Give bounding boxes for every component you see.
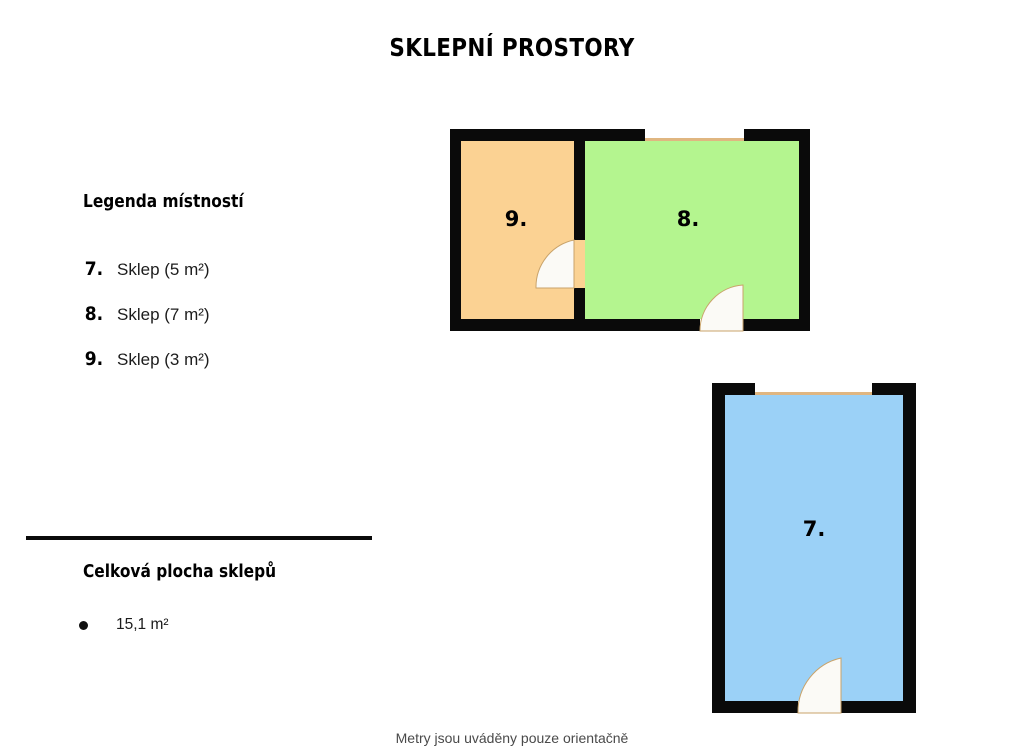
partition-wall-upper bbox=[574, 141, 585, 319]
window-frame-lower bbox=[755, 392, 872, 395]
room-fill-7 bbox=[725, 395, 903, 701]
room-label-8: 8. bbox=[677, 207, 700, 231]
list-item: 8. Sklep (7 m²) bbox=[83, 303, 383, 348]
list-item: 9. Sklep (3 m²) bbox=[83, 348, 383, 393]
legend-item-label: Sklep (7 m²) bbox=[117, 305, 210, 325]
door-opening-interior-upper bbox=[574, 240, 585, 288]
legend-item-label: Sklep (5 m²) bbox=[117, 260, 210, 280]
door-swing-lower bbox=[798, 658, 841, 713]
page-title: SKLEPNÍ PROSTORY bbox=[72, 33, 953, 62]
legend-list: 7. Sklep (5 m²) 8. Sklep (7 m²) 9. Sklep… bbox=[83, 258, 383, 393]
floorplan-lower-block: 7. bbox=[712, 381, 916, 713]
room-label-9: 9. bbox=[505, 207, 528, 231]
list-item: 7. Sklep (5 m²) bbox=[83, 258, 383, 303]
legend-item-label: Sklep (3 m²) bbox=[117, 350, 210, 370]
door-swing-interior-upper bbox=[536, 240, 574, 288]
door-swing-exterior-upper bbox=[700, 285, 743, 331]
wall-outline-upper bbox=[450, 129, 810, 331]
bullet-icon bbox=[79, 621, 88, 630]
legend-item-number: 8. bbox=[85, 303, 116, 325]
floorplan-page: SKLEPNÍ PROSTORY Legenda místností 7. Sk… bbox=[0, 0, 1024, 749]
footer-note: Metry jsou uváděny pouze orientačně bbox=[0, 730, 1024, 746]
window-upper bbox=[645, 127, 744, 141]
total-area-heading: Celková plocha sklepů bbox=[83, 562, 276, 582]
room-fill-9 bbox=[461, 141, 574, 319]
room-label-7: 7. bbox=[803, 517, 826, 541]
section-divider bbox=[26, 536, 372, 540]
total-area-value: 15,1 m² bbox=[116, 616, 169, 634]
legend-item-number: 9. bbox=[85, 348, 116, 370]
floorplan-upper-block: 9. 8. bbox=[450, 127, 810, 331]
legend-heading: Legenda místností bbox=[83, 192, 244, 212]
window-lower bbox=[755, 381, 872, 395]
wall-outline-lower bbox=[712, 383, 916, 713]
total-area-list: 15,1 m² bbox=[79, 616, 379, 634]
list-item: 15,1 m² bbox=[79, 616, 379, 634]
legend-item-number: 7. bbox=[85, 258, 116, 280]
window-frame-upper bbox=[645, 138, 744, 141]
door-opening-lower bbox=[798, 701, 841, 713]
door-opening-exterior-upper bbox=[700, 319, 743, 331]
room-fill-8 bbox=[574, 141, 799, 319]
